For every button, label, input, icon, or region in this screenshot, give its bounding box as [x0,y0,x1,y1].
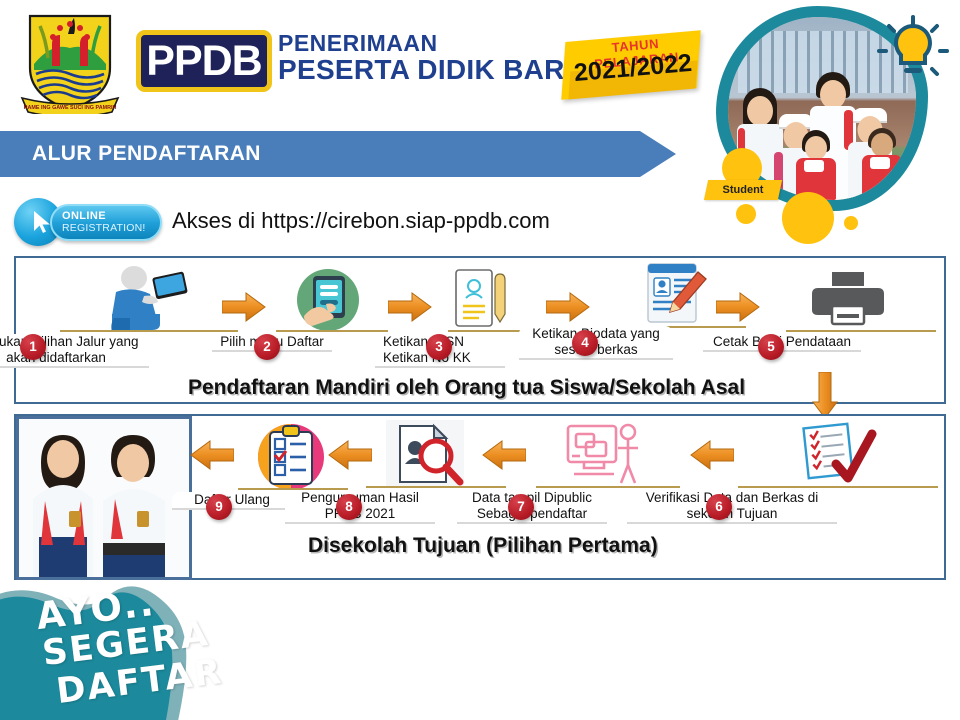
decorative-circle [736,204,756,224]
step-rule [738,486,938,488]
access-url-text: Akses di https://cirebon.siap-ppdb.com [172,208,550,234]
lightbulb-idea-icon [876,14,950,88]
student-label-tag: Student [704,180,782,200]
badge-line2: REGISTRATION! [62,222,146,234]
cirebon-city-crest-icon: RAME ING GAWE SUCI ING PAMRIH [16,6,124,114]
flow-arrow-down [812,372,838,418]
flow-arrow-right [388,292,432,322]
ppdb-logo-text: PPDB [146,40,261,83]
title-bar-arrow-tip [640,131,676,177]
flow-arrow-left [328,440,372,470]
students-photo-collage: Student [700,0,960,225]
presentation-monitor-icon [562,420,648,495]
flow-step-8-number: 8 [336,494,362,520]
flow-step-9-number: 9 [206,494,232,520]
step-rule [60,330,238,332]
flow-step-2-number: 2 [254,334,280,360]
crest-motto: RAME ING GAWE SUCI ING PAMRIH [24,105,117,111]
student-label-text: Student [706,180,780,200]
flow-row-2-caption: Disekolah Tujuan (Pilihan Pertama) [308,534,658,558]
checklist-check-icon [796,420,878,495]
flow-arrow-right [546,292,590,322]
flow-step-6-number: 6 [706,494,732,520]
flow-arrow-left [190,440,234,470]
student-figure [860,128,904,200]
online-registration-badge[interactable]: ONLINE REGISTRATION! [14,198,164,246]
person-laptop-icon [92,266,192,339]
section-title-text: ALUR PENDAFTARAN [32,142,261,166]
flow-step-1-number: 1 [20,334,46,360]
header-title-line1: PENERIMAAN [278,32,585,55]
flow-step-4-number: 4 [572,330,598,356]
decorative-circle [782,192,834,244]
infographic-canvas: RAME ING GAWE SUCI ING PAMRIH PPDB PENER… [0,0,960,720]
section-title-bar: ALUR PENDAFTARAN [0,131,640,177]
id-card-pen-icon [454,268,512,335]
flow-arrow-right [716,292,760,322]
step-rule [786,330,936,332]
flow-step-7-number: 7 [508,494,534,520]
decorative-circle [844,216,858,230]
printer-icon [812,270,884,333]
flow-arrow-left [690,440,734,470]
step-rule [276,330,388,332]
clipboard-checklist-icon [256,422,326,497]
tablet-tap-icon [292,266,364,339]
badge-line1: ONLINE [62,210,106,222]
flow-step-3-number: 3 [426,334,452,360]
ppdb-logo: PPDB [136,30,272,92]
header-title-line2: PESERTA DIDIK BARU [278,55,585,84]
flow-step-5-number: 5 [758,334,784,360]
step-rule [536,486,680,488]
document-search-icon [386,420,464,493]
school-year-ribbon: TAHUN PELAJARAN 2021/2022 [564,36,698,98]
flow-row-1-caption: Pendaftaran Mandiri oleh Orang tua Siswa… [188,376,745,400]
flow-arrow-left [482,440,526,470]
student-figure [794,130,838,200]
flow-step-9-label: Daftar Ulang [172,492,292,510]
students-photo-bottom [16,416,192,580]
flow-step-6-label: Verifikasi Data dan Berkas di sekolah Tu… [627,490,837,524]
flow-arrow-right [222,292,266,322]
header-title-block: PENERIMAAN PESERTA DIDIK BARU [278,32,585,85]
step-rule [366,486,506,488]
form-edit-icon [640,262,710,333]
